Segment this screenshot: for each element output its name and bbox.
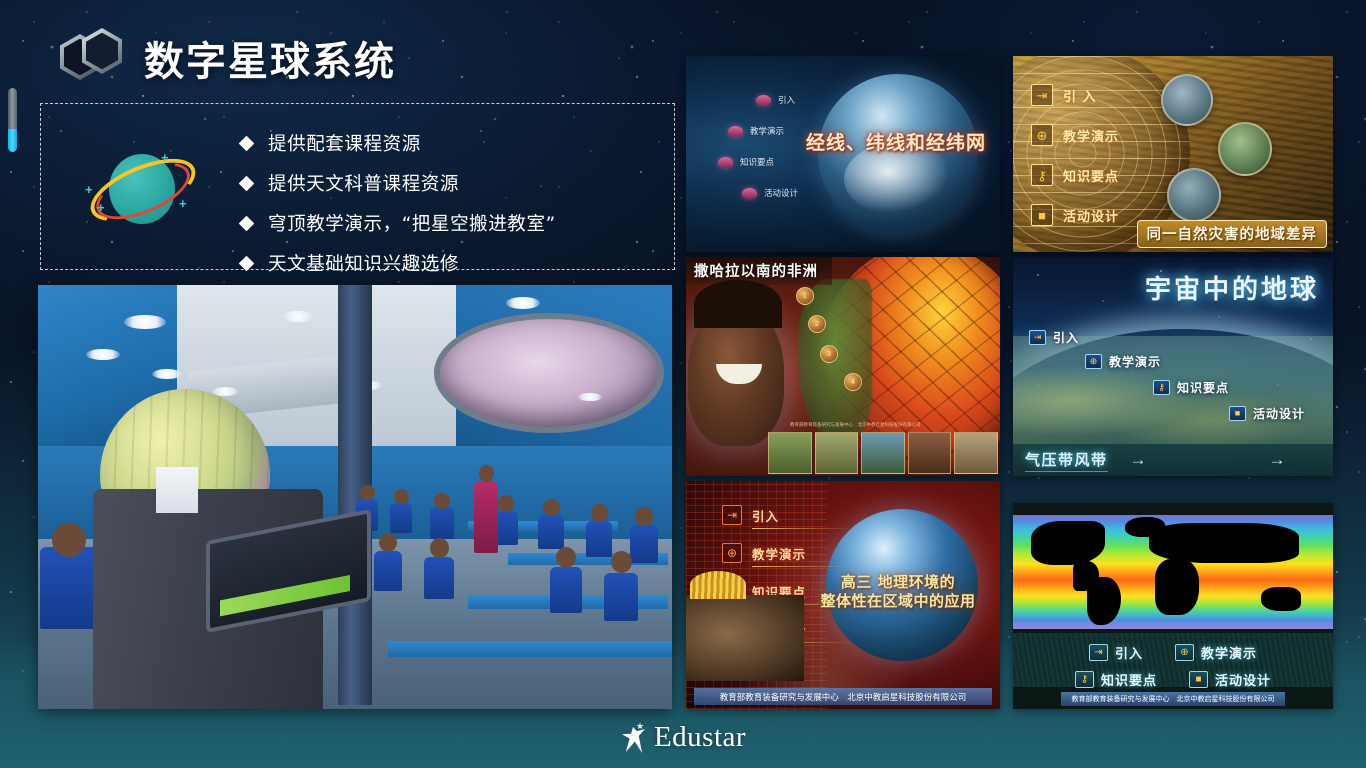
menu-item-label: 引入 bbox=[778, 94, 795, 106]
thumbnail[interactable] bbox=[861, 432, 905, 474]
progress-scrollbar[interactable] bbox=[8, 88, 17, 152]
menu-item-label: 教学演示 bbox=[1109, 353, 1161, 370]
panel-menu: 引入 教学演示 知识要点 活动设计 bbox=[712, 94, 798, 218]
arrow-right-icon: → bbox=[1269, 450, 1286, 470]
feature-list-box: + + + + 提供配套课程资源 提供天文科普课程资源 穹顶教学演示，“把星空搬… bbox=[40, 103, 675, 270]
courseware-panel-geography[interactable]: ⇥ 引入 ⊕ 教学演示 ⚷ 知识要点 ■ 活动设计 高三 地理环境的 整 bbox=[686, 481, 1000, 709]
panel-menu: ⇥ 引 入 ⊕ 教学演示 ⚷ 知识要点 ■ 活动设计 bbox=[1031, 84, 1119, 244]
thumbnail[interactable] bbox=[815, 432, 859, 474]
menu-item-key-points[interactable]: ⚷ 知识要点 bbox=[1031, 164, 1119, 186]
hotspot-node-3[interactable]: 3 bbox=[820, 345, 838, 363]
globe-grid-icon: ⊕ bbox=[1031, 124, 1053, 146]
menu-item-label: 引入 bbox=[1115, 643, 1143, 662]
progress-scrollbar-thumb[interactable] bbox=[8, 129, 17, 152]
menu-item-label: 活动设计 bbox=[764, 187, 798, 199]
diamond-bullet-icon bbox=[239, 215, 255, 231]
menu-item-key-points[interactable]: 知识要点 bbox=[718, 156, 798, 168]
indigenous-portrait-photo bbox=[686, 595, 804, 681]
square-play-icon: ■ bbox=[1189, 671, 1208, 688]
courseware-panel-africa[interactable]: 撒哈拉以南的非洲 1 2 3 4 教育部教育装备研究与发展中心 北京中教启星科技… bbox=[686, 257, 1000, 476]
menu-item-label: 知识要点 bbox=[1101, 670, 1157, 689]
enter-arrow-icon: ⇥ bbox=[1031, 84, 1053, 106]
thumbnail-strip bbox=[768, 432, 998, 474]
panel-title-line2: 整体性在区域中的应用 bbox=[812, 592, 984, 611]
menu-item-activity-design[interactable]: ■ 活动设计 bbox=[1031, 204, 1119, 226]
flood-photo-3 bbox=[1167, 168, 1221, 222]
menu-item-label: 知识要点 bbox=[740, 156, 774, 168]
flood-photo-2 bbox=[1218, 122, 1272, 176]
bubble-icon bbox=[742, 188, 757, 199]
panel-title: 撒哈拉以南的非洲 bbox=[686, 257, 832, 285]
list-item: 提供配套课程资源 bbox=[241, 126, 556, 160]
thumbnail[interactable] bbox=[768, 432, 812, 474]
square-play-icon: ■ bbox=[1229, 406, 1246, 421]
next-topic-bar[interactable]: 气压带风带 → → bbox=[1013, 444, 1333, 476]
next-topic-label: 气压带风带 bbox=[1025, 449, 1108, 472]
brand-name: Edustar bbox=[654, 721, 746, 754]
feature-list: 提供配套课程资源 提供天文科普课程资源 穹顶教学演示，“把星空搬进教室” 天文基… bbox=[241, 126, 556, 286]
thumbnail[interactable] bbox=[954, 432, 998, 474]
menu-item-label: 教学演示 bbox=[750, 125, 784, 137]
dome-projection-screen bbox=[434, 313, 664, 433]
star-figure-icon: ★ bbox=[620, 720, 650, 754]
menu-item-teaching-demo[interactable]: 教学演示 bbox=[728, 125, 798, 137]
key-icon: ⚷ bbox=[1075, 671, 1094, 688]
key-icon: ⚷ bbox=[1031, 164, 1053, 186]
menu-item-label: 引入 bbox=[752, 506, 779, 525]
menu-item-label: 引 入 bbox=[1063, 86, 1097, 105]
menu-item-label: 教学演示 bbox=[1201, 643, 1257, 662]
menu-item-label: 教学演示 bbox=[752, 544, 806, 563]
diamond-bullet-icon bbox=[239, 175, 255, 191]
square-play-icon: ■ bbox=[1031, 204, 1053, 226]
slide-header: 数字星球系统 bbox=[60, 28, 396, 88]
diamond-bullet-icon bbox=[239, 135, 255, 151]
enter-arrow-icon: ⇥ bbox=[722, 505, 742, 525]
menu-item-introduction[interactable]: 引入 bbox=[756, 94, 798, 106]
bubble-icon bbox=[718, 157, 733, 168]
hotspot-node-2[interactable]: 2 bbox=[808, 315, 826, 333]
bubble-icon bbox=[728, 126, 743, 137]
menu-item-introduction[interactable]: ⇥ 引入 bbox=[722, 505, 806, 525]
planet-with-rings-icon: + + + + bbox=[83, 138, 203, 238]
arrow-right-icon: → bbox=[1130, 450, 1147, 470]
menu-item-label: 活动设计 bbox=[1253, 405, 1305, 422]
hotspot-node-4[interactable]: 4 bbox=[844, 373, 862, 391]
flood-photo-1 bbox=[1161, 74, 1213, 126]
diamond-bullet-icon bbox=[239, 255, 255, 271]
globe-grid-icon: ⊕ bbox=[722, 543, 742, 563]
classroom-photo bbox=[38, 285, 672, 709]
panel-title: 同一自然灾害的地域差异 bbox=[1137, 220, 1328, 248]
courseware-panel-jingxian[interactable]: 引入 教学演示 知识要点 活动设计 经线、纬线和经纬网 bbox=[686, 56, 1000, 252]
info-card bbox=[156, 467, 198, 513]
menu-item-introduction[interactable]: ⇥ 引 入 bbox=[1031, 84, 1119, 106]
slide-canvas: 数字星球系统 + + + + 提供配套课程资源 提供天文科普课程资源 穹顶教学演… bbox=[0, 0, 1366, 768]
panel-credit: 教育部教育装备研究与发展中心 北京中教启星科技股份有限公司 bbox=[790, 422, 921, 428]
menu-item-label: 知识要点 bbox=[1177, 379, 1229, 396]
list-item-label: 提供天文科普课程资源 bbox=[268, 170, 459, 196]
list-item-label: 天文基础知识兴趣选修 bbox=[268, 250, 459, 276]
bubble-icon bbox=[756, 95, 771, 106]
menu-item-label: 教学演示 bbox=[1063, 126, 1119, 145]
menu-item-label: 知识要点 bbox=[1063, 166, 1119, 185]
hexagon-pair-icon bbox=[60, 28, 126, 88]
menu-item-label: 活动设计 bbox=[1215, 670, 1271, 689]
menu-item-teaching-demo[interactable]: ⊕ 教学演示 bbox=[1031, 124, 1119, 146]
hotspot-node-1[interactable]: 1 bbox=[796, 287, 814, 305]
panel-footer: 教育部教育装备研究与发展中心 北京中教启星科技股份有限公司 bbox=[1061, 692, 1285, 706]
globe-grid-icon: ⊕ bbox=[1085, 354, 1102, 369]
menu-item-label: 活动设计 bbox=[1063, 206, 1119, 225]
courseware-panel-universe[interactable]: 宇宙中的地球 ⇥ 引入 ⊕ 教学演示 ⚷ 知识要点 ■ 活动设计 气压带风带 →… bbox=[1013, 257, 1333, 476]
list-item: 天文基础知识兴趣选修 bbox=[241, 246, 556, 280]
page-title: 数字星球系统 bbox=[144, 29, 396, 87]
menu-item-key-points[interactable]: ⚷ 知识要点 bbox=[1153, 379, 1229, 396]
menu-item-teaching-demo[interactable]: ⊕ 教学演示 bbox=[722, 543, 806, 563]
panel-menu: ⇥ 引入 ⊕ 教学演示 ⚷ 知识要点 ■ 活动设计 bbox=[1013, 633, 1333, 687]
panel-title: 宇宙中的地球 bbox=[1145, 269, 1319, 306]
menu-item-introduction[interactable]: ⇥ 引入 bbox=[1029, 329, 1079, 346]
list-item-label: 提供配套课程资源 bbox=[268, 130, 421, 156]
portrait-photo bbox=[688, 306, 784, 446]
menu-item-activity-design[interactable]: 活动设计 bbox=[742, 187, 798, 199]
menu-item-key-points[interactable]: ⚷ 知识要点 bbox=[1075, 670, 1157, 689]
menu-item-teaching-demo[interactable]: ⊕ 教学演示 bbox=[1085, 353, 1161, 370]
panel-footer: 教育部教育装备研究与发展中心 北京中教启星科技股份有限公司 bbox=[694, 688, 992, 705]
menu-item-activity-design[interactable]: ■ 活动设计 bbox=[1229, 405, 1305, 422]
list-item: 穹顶教学演示，“把星空搬进教室” bbox=[241, 206, 556, 240]
menu-item-teaching-demo[interactable]: ⊕ 教学演示 bbox=[1175, 643, 1257, 662]
panel-title: 经线、纬线和经纬网 bbox=[806, 128, 986, 155]
enter-arrow-icon: ⇥ bbox=[1029, 330, 1046, 345]
courseware-panel-disaster[interactable]: ⇥ 引 入 ⊕ 教学演示 ⚷ 知识要点 ■ 活动设计 同一自然灾害的地域差异 bbox=[1013, 56, 1333, 252]
globe-grid-icon: ⊕ bbox=[1175, 644, 1194, 661]
sea-surface-temperature-map bbox=[1013, 515, 1333, 629]
menu-item-introduction[interactable]: ⇥ 引入 bbox=[1089, 643, 1143, 662]
menu-item-label: 引入 bbox=[1053, 329, 1079, 346]
menu-item-activity-design[interactable]: ■ 活动设计 bbox=[1189, 670, 1271, 689]
enter-arrow-icon: ⇥ bbox=[1089, 644, 1108, 661]
panel-title: 高三 地理环境的 整体性在区域中的应用 bbox=[812, 573, 984, 611]
list-item: 提供天文科普课程资源 bbox=[241, 166, 556, 200]
panel-title-line1: 高三 地理环境的 bbox=[812, 573, 984, 592]
thumbnail[interactable] bbox=[908, 432, 952, 474]
brand-logo: ★ Edustar bbox=[0, 720, 1366, 754]
key-icon: ⚷ bbox=[1153, 380, 1170, 395]
list-item-label: 穹顶教学演示，“把星空搬进教室” bbox=[268, 210, 556, 236]
courseware-panel-sst-map[interactable]: ⇥ 引入 ⊕ 教学演示 ⚷ 知识要点 ■ 活动设计 教育部教育装备研究与发 bbox=[1013, 503, 1333, 709]
